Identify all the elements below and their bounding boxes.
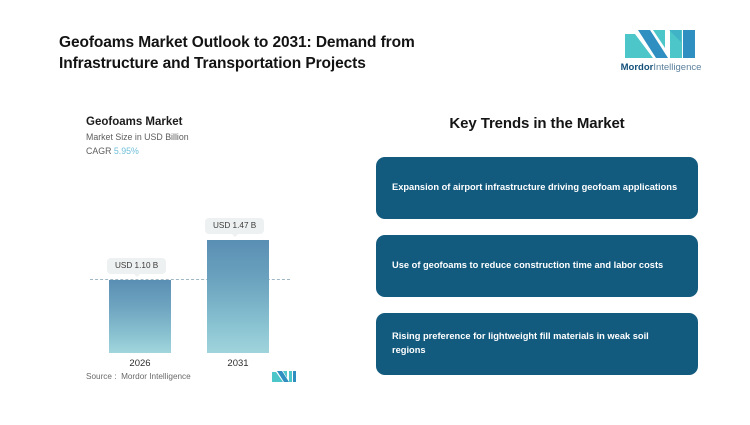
bar-2031[interactable] bbox=[207, 240, 269, 353]
chart-subtitle: Market Size in USD Billion bbox=[86, 132, 189, 142]
value-badge-2026: USD 1.10 B bbox=[107, 258, 166, 274]
trend-card[interactable]: Use of geofoams to reduce construction t… bbox=[376, 235, 698, 297]
bar-chart-plot: USD 1.10 B 2026 USD 1.47 B 2031 bbox=[60, 158, 340, 353]
source-row: Source : Mordor Intelligence bbox=[86, 370, 340, 386]
cagr-label: CAGR bbox=[86, 146, 111, 156]
brand-name: MordorIntelligence bbox=[611, 62, 711, 73]
x-axis-label-2031: 2031 bbox=[207, 358, 269, 369]
chart-panel: Geofoams Market Market Size in USD Billi… bbox=[60, 108, 340, 398]
trend-card[interactable]: Rising preference for lightweight fill m… bbox=[376, 313, 698, 375]
page-header: Geofoams Market Outlook to 2031: Demand … bbox=[0, 0, 750, 92]
trend-card-text: Rising preference for lightweight fill m… bbox=[392, 330, 682, 358]
brand-name-light: Intelligence bbox=[653, 62, 701, 73]
trend-card[interactable]: Expansion of airport infrastructure driv… bbox=[376, 157, 698, 219]
cagr-value: 5.95% bbox=[114, 146, 139, 156]
trend-card-text: Expansion of airport infrastructure driv… bbox=[392, 181, 677, 195]
chart-cagr: CAGR 5.95% bbox=[86, 146, 139, 156]
brand-logo: MordorIntelligence bbox=[611, 28, 711, 78]
source-name: Mordor Intelligence bbox=[121, 372, 191, 381]
source-label: Source : bbox=[86, 372, 117, 381]
value-badge-2031: USD 1.47 B bbox=[205, 218, 264, 234]
page-title: Geofoams Market Outlook to 2031: Demand … bbox=[59, 33, 489, 75]
brand-name-bold: Mordor bbox=[621, 62, 654, 73]
x-axis-label-2026: 2026 bbox=[109, 358, 171, 369]
key-trends-panel: Key Trends in the Market Expansion of ai… bbox=[376, 108, 698, 398]
chart-title: Geofoams Market bbox=[86, 116, 183, 128]
mordor-mark-icon bbox=[271, 370, 297, 383]
bar-2026[interactable] bbox=[109, 280, 171, 353]
trends-heading: Key Trends in the Market bbox=[376, 115, 698, 132]
trend-card-text: Use of geofoams to reduce construction t… bbox=[392, 259, 663, 273]
mordor-intelligence-logo-icon bbox=[623, 28, 697, 60]
source-text: Source : Mordor Intelligence bbox=[86, 372, 191, 381]
